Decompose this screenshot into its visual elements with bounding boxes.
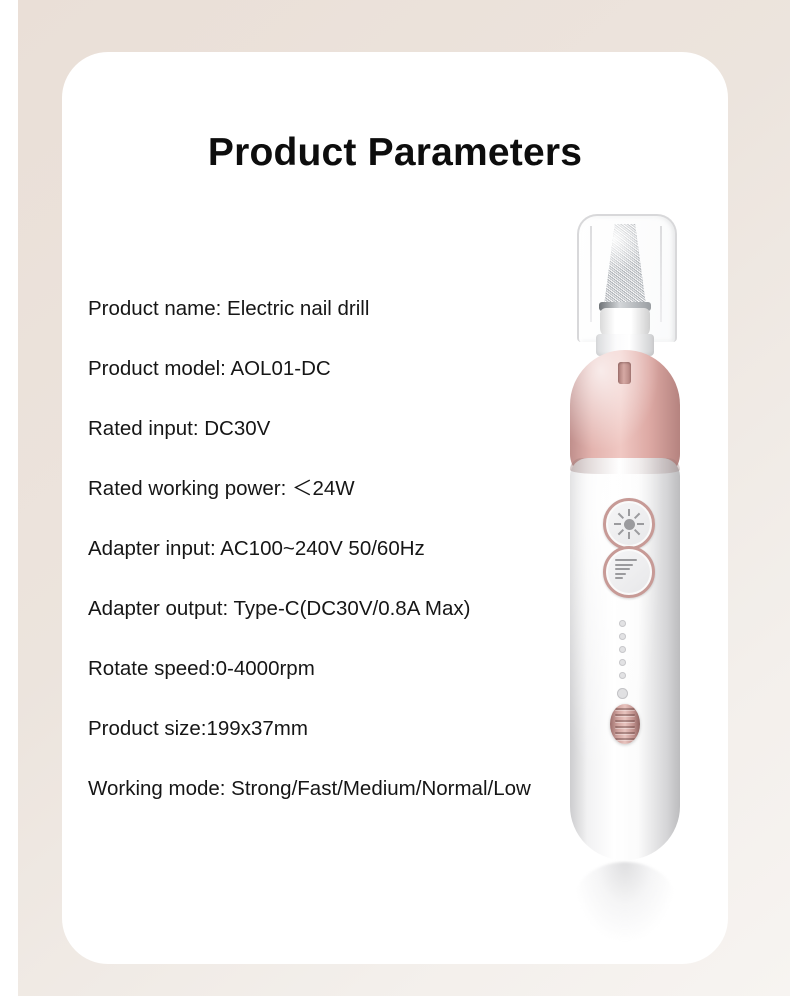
body-seam [570,458,680,474]
level-dot [619,659,626,666]
spec-row-rotate-speed: Rotate speed:0-4000rpm [88,656,558,716]
spec-row-product-name: Product name: Electric nail drill [88,296,558,356]
power-slide-switch[interactable] [610,704,640,744]
spec-row-rated-input: Rated input: DC30V [88,416,558,476]
spec-row-adapter-output: Adapter output: Type-C(DC30V/0.8A Max) [88,596,558,656]
level-indicator-dots [619,620,626,685]
product-photo [500,196,750,896]
product-reflection [574,862,676,940]
charge-indicator-dot [617,688,628,699]
cap-edge-right [660,226,662,322]
speed-button[interactable] [603,546,655,598]
level-dot [619,633,626,640]
spec-list: Product name: Electric nail drill Produc… [88,296,558,836]
level-dot [619,646,626,653]
spec-row-adapter-input: Adapter input: AC100~240V 50/60Hz [88,536,558,596]
level-dot [619,620,626,627]
light-button[interactable] [603,498,655,550]
head-vent [618,362,631,384]
spec-row-rated-power: Rated working power: ＜24W [88,476,558,536]
page-title: Product Parameters [62,131,728,175]
spec-row-working-mode: Working mode: Strong/Fast/Medium/Normal/… [88,776,558,836]
level-dot [619,672,626,679]
speed-level-icon [615,559,637,582]
product-parameters-page: Product Parameters Product name: Electri… [0,0,790,996]
spec-row-product-model: Product model: AOL01-DC [88,356,558,416]
spec-row-product-size: Product size:199x37mm [88,716,558,776]
cap-edge-left [590,226,592,322]
